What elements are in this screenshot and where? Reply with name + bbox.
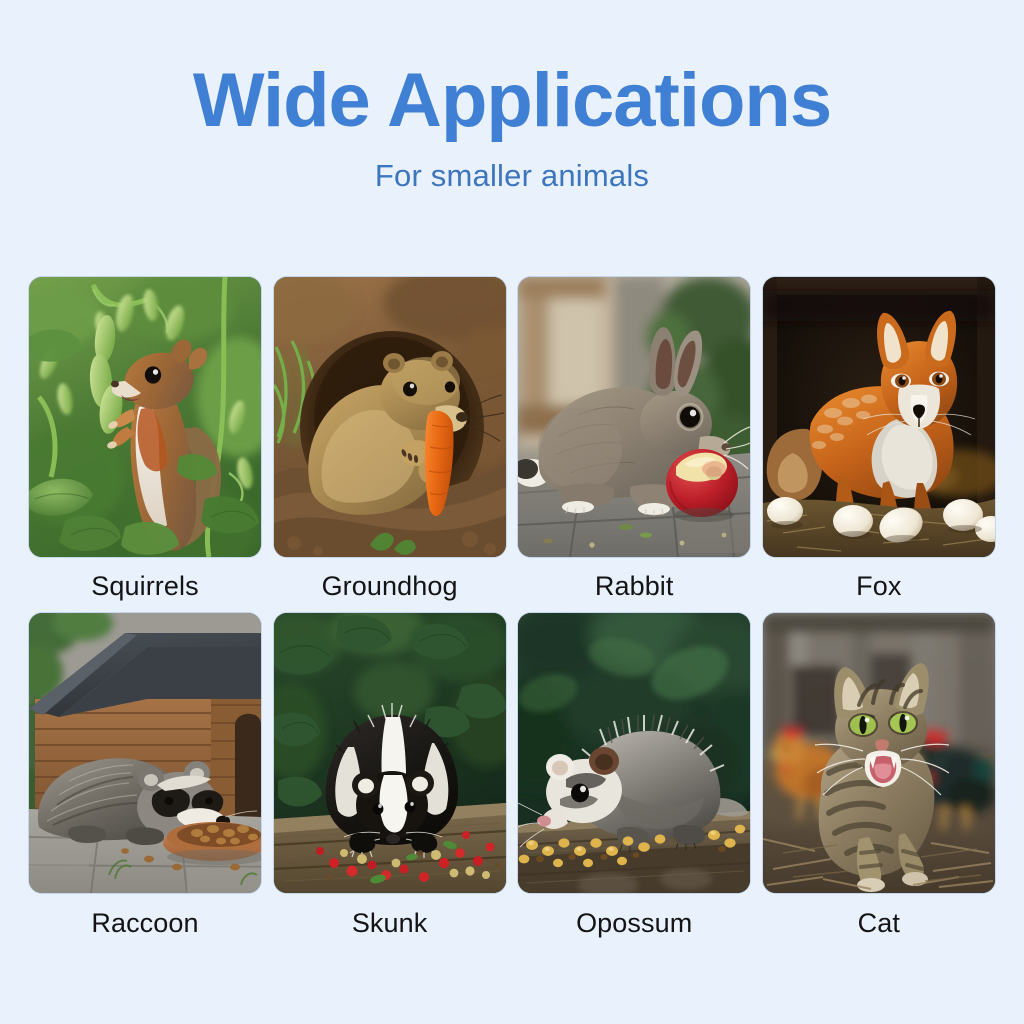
tile-caption: Squirrels <box>29 571 261 602</box>
tile-caption: Fox <box>763 571 995 602</box>
opossum-photo[interactable] <box>518 613 750 893</box>
page-title: Wide Applications <box>0 62 1024 140</box>
grid-cell-raccoon: Raccoon <box>29 613 261 939</box>
animal-grid: Squirrels <box>29 277 995 939</box>
grid-cell-cat: Cat <box>763 613 995 939</box>
fox-photo[interactable] <box>763 277 995 557</box>
wide-applications-poster: Wide Applications For smaller animals <box>0 0 1024 1024</box>
tile-caption: Groundhog <box>274 571 506 602</box>
groundhog-photo[interactable] <box>274 277 506 557</box>
grid-cell-opossum: Opossum <box>518 613 750 939</box>
tile-caption: Skunk <box>274 908 506 939</box>
squirrel-photo[interactable] <box>29 277 261 557</box>
grid-cell-groundhog: Groundhog <box>274 277 506 602</box>
grid-cell-squirrels: Squirrels <box>29 277 261 602</box>
rabbit-photo[interactable] <box>518 277 750 557</box>
skunk-photo[interactable] <box>274 613 506 893</box>
tile-caption: Raccoon <box>29 908 261 939</box>
grid-cell-rabbit: Rabbit <box>518 277 750 602</box>
tile-caption: Cat <box>763 908 995 939</box>
raccoon-photo[interactable] <box>29 613 261 893</box>
page-subtitle: For smaller animals <box>0 158 1024 194</box>
cat-photo[interactable] <box>763 613 995 893</box>
grid-cell-fox: Fox <box>763 277 995 602</box>
tile-caption: Rabbit <box>518 571 750 602</box>
grid-cell-skunk: Skunk <box>274 613 506 939</box>
header: Wide Applications For smaller animals <box>0 62 1024 194</box>
tile-caption: Opossum <box>518 908 750 939</box>
